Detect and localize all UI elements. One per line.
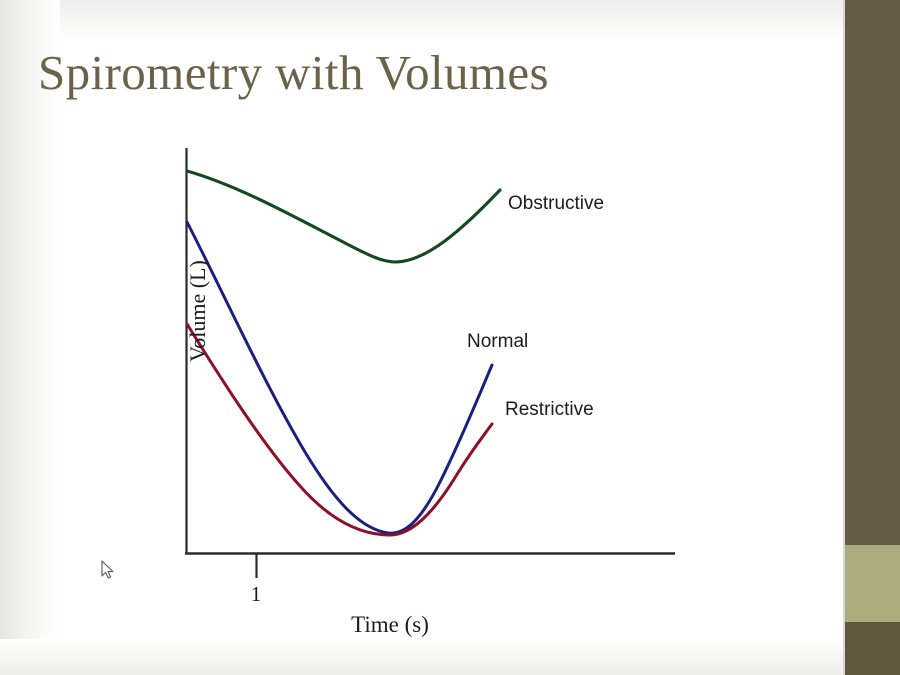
- sidebar-band-middle: [845, 545, 900, 622]
- chart-plot-area: [0, 0, 900, 675]
- x-axis-label: Time (s): [300, 612, 480, 638]
- mouse-pointer-icon: [101, 560, 115, 580]
- spirometry-chart: Obstructive Normal Restrictive Volume (L…: [0, 0, 900, 675]
- y-axis-label: Volume (L): [185, 231, 211, 391]
- series-line-obstructive: [187, 171, 500, 262]
- series-line-normal: [187, 222, 492, 533]
- series-label-obstructive: Obstructive: [508, 193, 604, 215]
- series-line-restrictive: [187, 324, 492, 535]
- series-label-normal: Normal: [467, 331, 528, 353]
- presentation-slide: Spirometry with Volumes Obstructive Norm…: [0, 0, 900, 675]
- slide-decoration-sidebar: [843, 0, 900, 675]
- series-label-restrictive: Restrictive: [505, 399, 594, 421]
- x-axis-tick-label-1: 1: [240, 582, 272, 607]
- sidebar-band-bottom: [845, 622, 900, 675]
- sidebar-band-top: [845, 0, 900, 545]
